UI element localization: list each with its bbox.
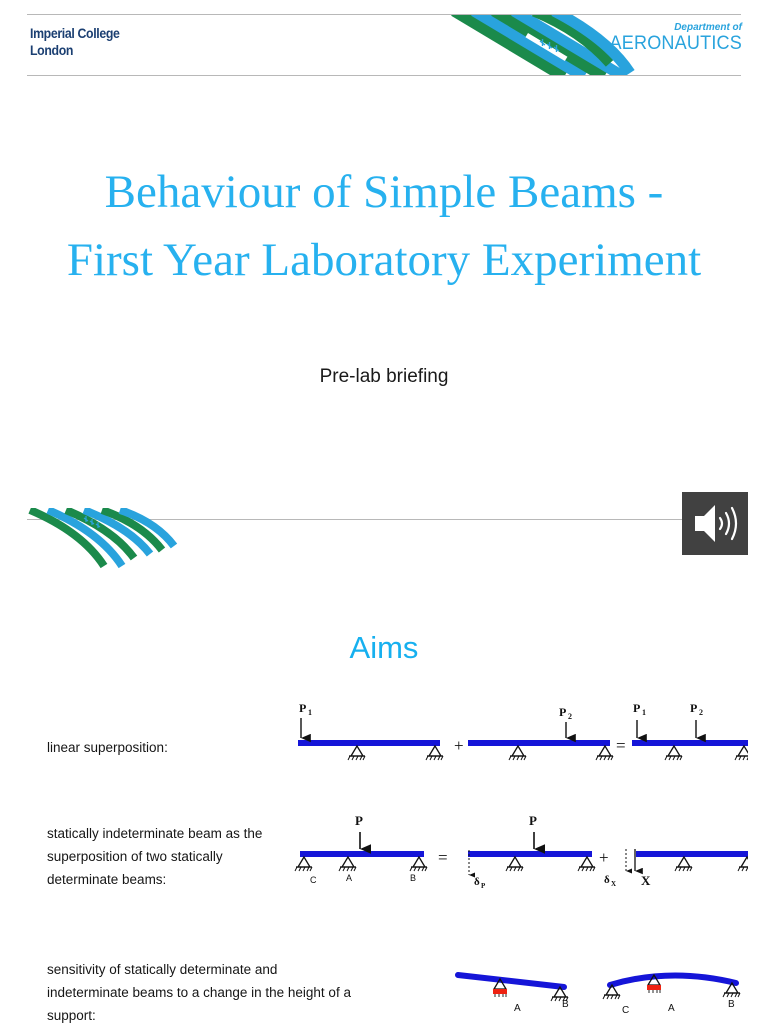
aims-heading: Aims [0, 630, 768, 666]
aeronautics-wordmark: Department of AERONAUTICS [602, 22, 742, 54]
svg-text:A: A [346, 873, 352, 883]
svg-text:1: 1 [642, 708, 646, 717]
aims-slide: Aims linear superposition: P 1 [0, 560, 768, 1024]
svg-text:P: P [633, 701, 640, 715]
aeronautics-label: AERONAUTICS [609, 33, 742, 54]
svg-text:1: 1 [308, 708, 312, 717]
aeronautics-logo: Department of AERONAUTICS [432, 15, 742, 75]
svg-text:=: = [616, 736, 626, 755]
imperial-college-line2: London [30, 42, 120, 59]
svg-text:X: X [641, 873, 651, 888]
svg-text:+: + [454, 736, 464, 755]
beam-superposition-diagram: P 1 [286, 693, 748, 783]
svg-text:A: A [668, 1003, 675, 1014]
svg-text:B: B [728, 999, 735, 1010]
page-subtitle: Pre-lab briefing [64, 366, 704, 388]
imperial-college-line1: Imperial College [30, 25, 120, 42]
svg-text:P: P [559, 705, 566, 719]
aim-label-linear-superposition: linear superposition: [47, 736, 297, 759]
svg-text:2: 2 [568, 712, 572, 721]
svg-text:C: C [310, 875, 317, 885]
svg-text:P: P [529, 813, 537, 828]
svg-text:=: = [438, 848, 448, 867]
aim-row-support-sensitivity: sensitivity of statically determinate an… [0, 945, 768, 1025]
beam-indeterminate-diagram: P [286, 805, 748, 905]
page-title: Behaviour of Simple Beams - First Year L… [64, 158, 704, 294]
aim-row-indeterminate-superposition: statically indeterminate beam as the sup… [0, 805, 768, 910]
svg-text:A: A [514, 1003, 521, 1014]
svg-text:C: C [622, 1005, 629, 1016]
speaker-icon[interactable] [682, 492, 748, 555]
beam-sensitivity-diagram: A B [452, 953, 752, 1019]
aim-row-linear-superposition: linear superposition: P 1 [0, 693, 768, 783]
svg-text:δ: δ [604, 874, 610, 886]
diagram-indeterminate-superposition: P [286, 805, 748, 905]
diagram-linear-superposition: P 1 [286, 693, 748, 783]
svg-text:+: + [599, 848, 609, 867]
svg-text:B: B [410, 873, 416, 883]
aim-label-sensitivity: sensitivity of statically determinate an… [47, 958, 357, 1027]
aim-label-indeterminate: statically indeterminate beam as the sup… [47, 822, 297, 891]
svg-text:P: P [299, 701, 306, 715]
imperial-college-logo: Imperial College London [30, 25, 120, 59]
diagram-support-sensitivity: A B [452, 953, 752, 1019]
department-of-label: Department of [602, 22, 742, 33]
svg-text:X: X [611, 880, 616, 888]
title-slide: Imperial College London Department o [0, 0, 768, 500]
svg-text:P: P [481, 882, 486, 890]
svg-text:2: 2 [699, 708, 703, 717]
audio-play-button[interactable] [682, 492, 748, 555]
svg-text:δ: δ [474, 876, 480, 888]
header-rule-bottom [27, 75, 741, 76]
svg-text:P: P [355, 813, 363, 828]
svg-text:B: B [562, 999, 569, 1010]
svg-text:P: P [690, 701, 697, 715]
